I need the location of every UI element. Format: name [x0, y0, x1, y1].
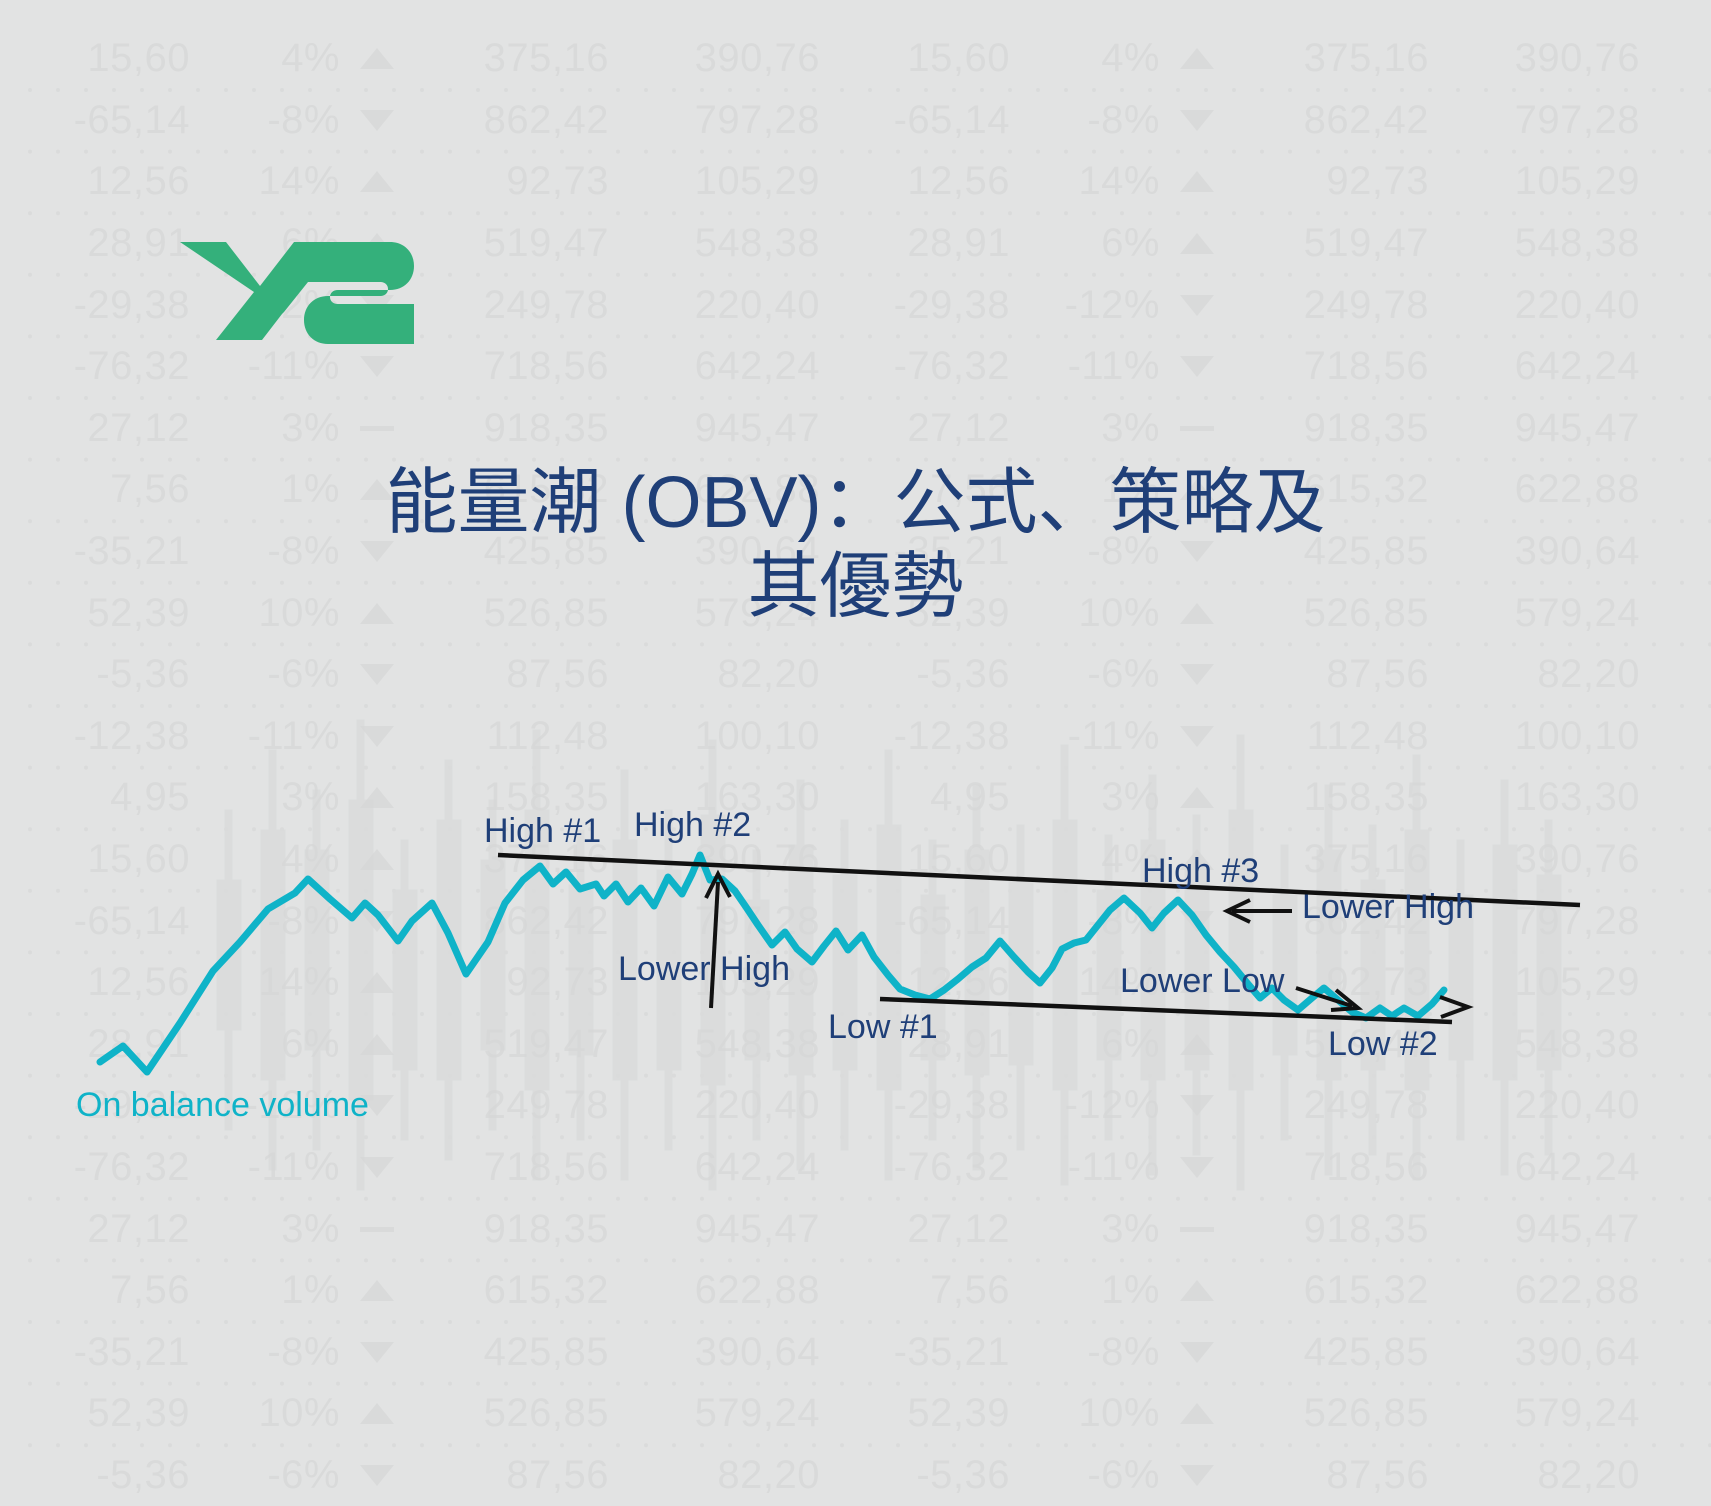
- label-high-2: High #2: [634, 806, 751, 845]
- lower-trendline-arrowhead: [1440, 997, 1468, 1017]
- label-low-2: Low #2: [1328, 1025, 1438, 1064]
- label-lower-low: Lower Low: [1120, 962, 1284, 1001]
- label-lower-high-right: Lower High: [1302, 888, 1474, 927]
- label-lower-high-middle: Lower High: [618, 950, 790, 989]
- label-low-1: Low #1: [828, 1008, 938, 1047]
- page-title: 能量潮 (OBV)：公式、策略及 其優勢: [0, 462, 1711, 629]
- page-title-line1: 能量潮 (OBV)：公式、策略及: [0, 462, 1711, 546]
- obv-chart: [0, 0, 1711, 1506]
- page-root: 15,604%375,16390,7615,604%375,16390,76-6…: [0, 0, 1711, 1506]
- label-high-3: High #3: [1142, 852, 1259, 891]
- label-series-name: On balance volume: [76, 1086, 369, 1125]
- xs-logo: [176, 236, 416, 366]
- label-high-1: High #1: [484, 812, 601, 851]
- lower-high-callout-line: [711, 882, 718, 1008]
- page-title-line2: 其優勢: [0, 546, 1711, 630]
- lower-trendline: [880, 999, 1452, 1022]
